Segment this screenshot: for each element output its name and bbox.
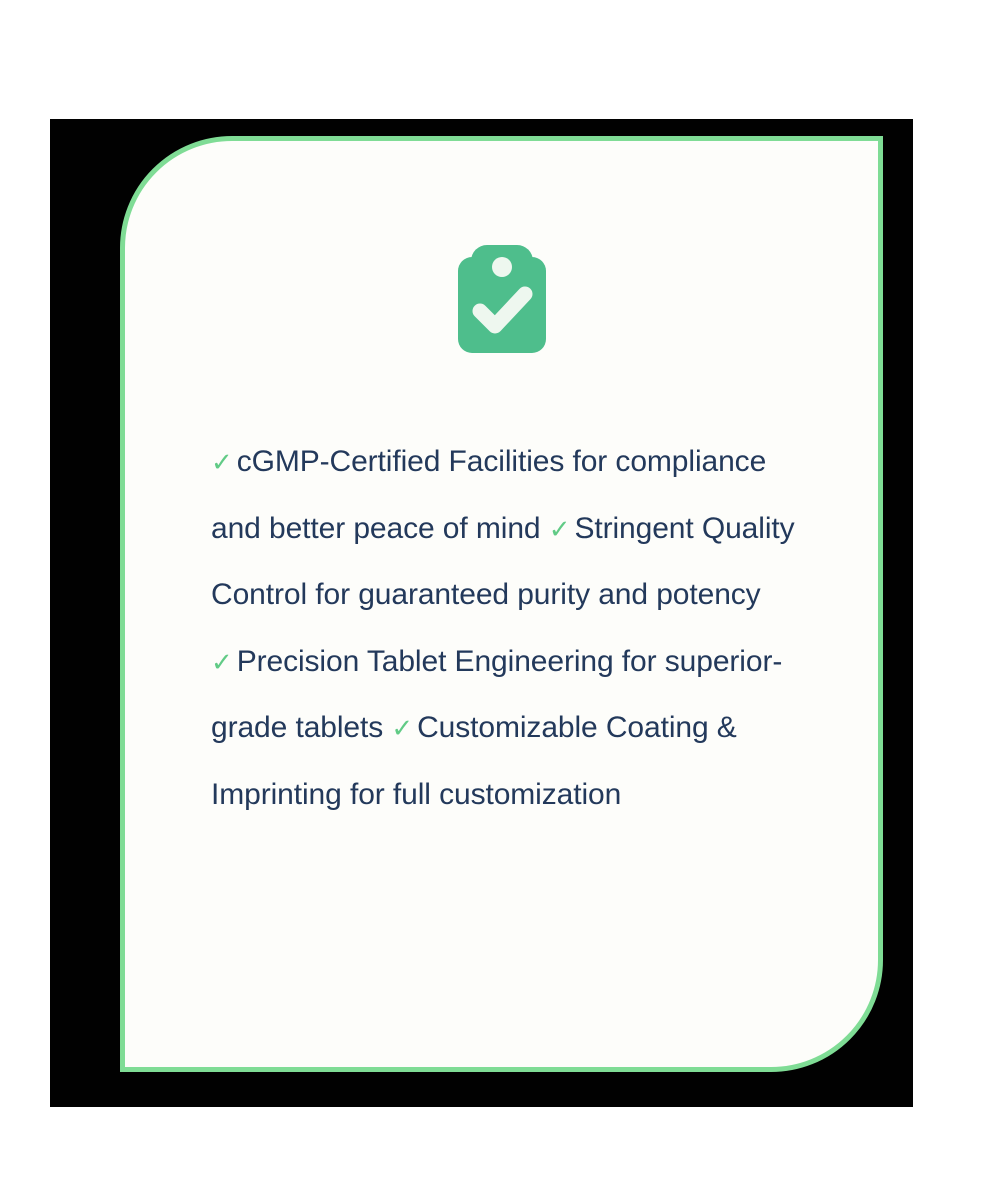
- check-icon: ✓: [211, 647, 237, 677]
- card-icon-container: [125, 241, 878, 357]
- check-icon: ✓: [549, 514, 575, 544]
- feature-list: ✓cGMP-Certified Facilities for complianc…: [211, 429, 811, 828]
- card-content-area: ✓cGMP-Certified Facilities for complianc…: [125, 141, 878, 1067]
- check-icon: ✓: [391, 713, 417, 743]
- capabilities-feature-card: ✓cGMP-Certified Facilities for complianc…: [120, 136, 883, 1072]
- feature-card-stage: ✓cGMP-Certified Facilities for complianc…: [0, 0, 1006, 1200]
- check-icon: ✓: [211, 447, 237, 477]
- clipboard-check-icon: [454, 241, 550, 357]
